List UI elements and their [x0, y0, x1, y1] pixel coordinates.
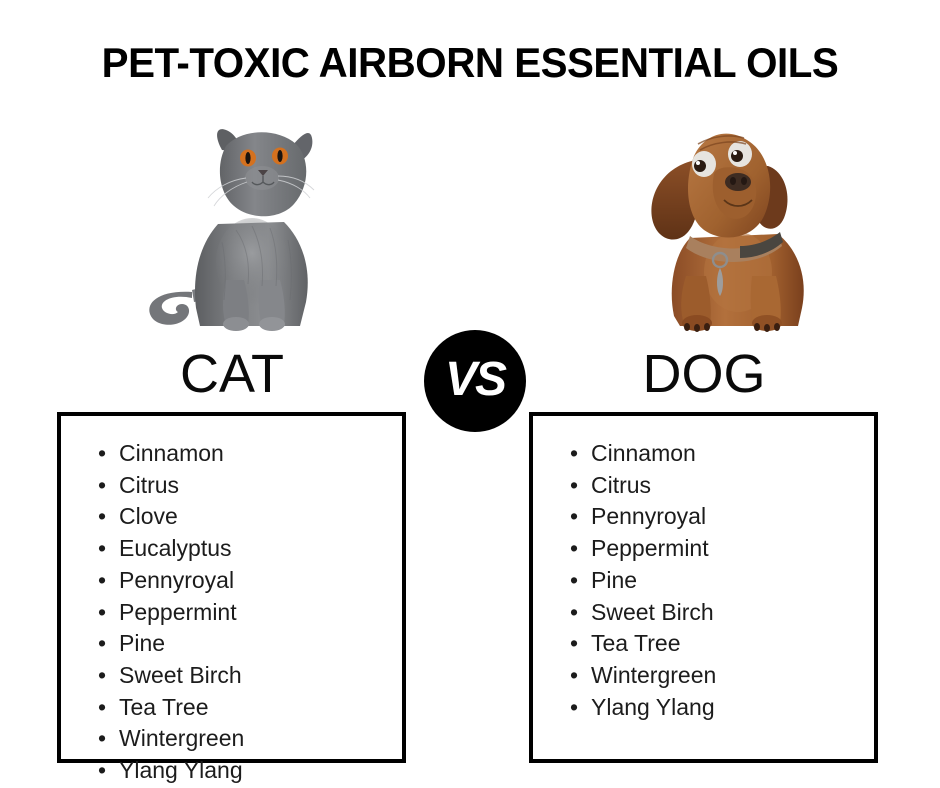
oil-list-item: Pine — [591, 565, 874, 597]
oil-list-item: Ylang Ylang — [591, 692, 874, 724]
oil-list-item: Cinnamon — [591, 438, 874, 470]
cat-photo — [130, 112, 380, 332]
oil-list-item: Clove — [119, 501, 402, 533]
cat-oils-list: CinnamonCitrusCloveEucalyptusPennyroyalP… — [61, 416, 402, 787]
cat-illustration — [130, 112, 380, 332]
oil-list-item: Peppermint — [119, 597, 402, 629]
oil-list-item: Pennyroyal — [591, 501, 874, 533]
oil-list-item: Citrus — [119, 470, 402, 502]
versus-badge-label: VS — [445, 356, 505, 404]
dog-illustration — [628, 112, 848, 332]
oil-list-item: Sweet Birch — [591, 597, 874, 629]
dog-nostril-left — [730, 177, 736, 185]
cat-paw-right — [259, 317, 285, 331]
cat-paw-left — [223, 317, 249, 331]
dog-pupil-right — [731, 150, 743, 162]
dog-eye-glint-left — [696, 161, 700, 165]
page-title: PET-TOXIC AIRBORN ESSENTIAL OILS — [19, 38, 921, 88]
oil-list-item: Tea Tree — [591, 628, 874, 660]
dog-oils-list: CinnamonCitrusPennyroyalPeppermintPineSw… — [533, 416, 874, 723]
dog-nostril-right — [741, 177, 747, 185]
oil-list-item: Wintergreen — [119, 723, 402, 755]
versus-badge: VS — [424, 330, 526, 432]
infographic-page: PET-TOXIC AIRBORN ESSENTIAL OILS — [0, 0, 940, 788]
oil-list-item: Pine — [119, 628, 402, 660]
dog-column-label: DOG — [529, 345, 879, 403]
cat-oils-box: CinnamonCitrusCloveEucalyptusPennyroyalP… — [57, 412, 406, 763]
dog-nose — [725, 173, 751, 191]
dog-pupil-left — [694, 160, 706, 172]
cat-pupil-right — [277, 150, 282, 162]
cat-pupil-left — [245, 152, 250, 164]
dog-oils-box: CinnamonCitrusPennyroyalPeppermintPineSw… — [529, 412, 878, 763]
oil-list-item: Peppermint — [591, 533, 874, 565]
dog-eye-glint-right — [733, 151, 737, 155]
cat-tail — [149, 292, 192, 325]
oil-list-item: Sweet Birch — [119, 660, 402, 692]
oil-list-item: Pennyroyal — [119, 565, 402, 597]
oil-list-item: Ylang Ylang — [119, 755, 402, 787]
oil-list-item: Wintergreen — [591, 660, 874, 692]
cat-muzzle — [245, 166, 279, 190]
oil-list-item: Citrus — [591, 470, 874, 502]
cat-column-label: CAT — [57, 345, 407, 403]
oil-list-item: Tea Tree — [119, 692, 402, 724]
dog-photo — [628, 112, 848, 332]
oil-list-item: Cinnamon — [119, 438, 402, 470]
oil-list-item: Eucalyptus — [119, 533, 402, 565]
